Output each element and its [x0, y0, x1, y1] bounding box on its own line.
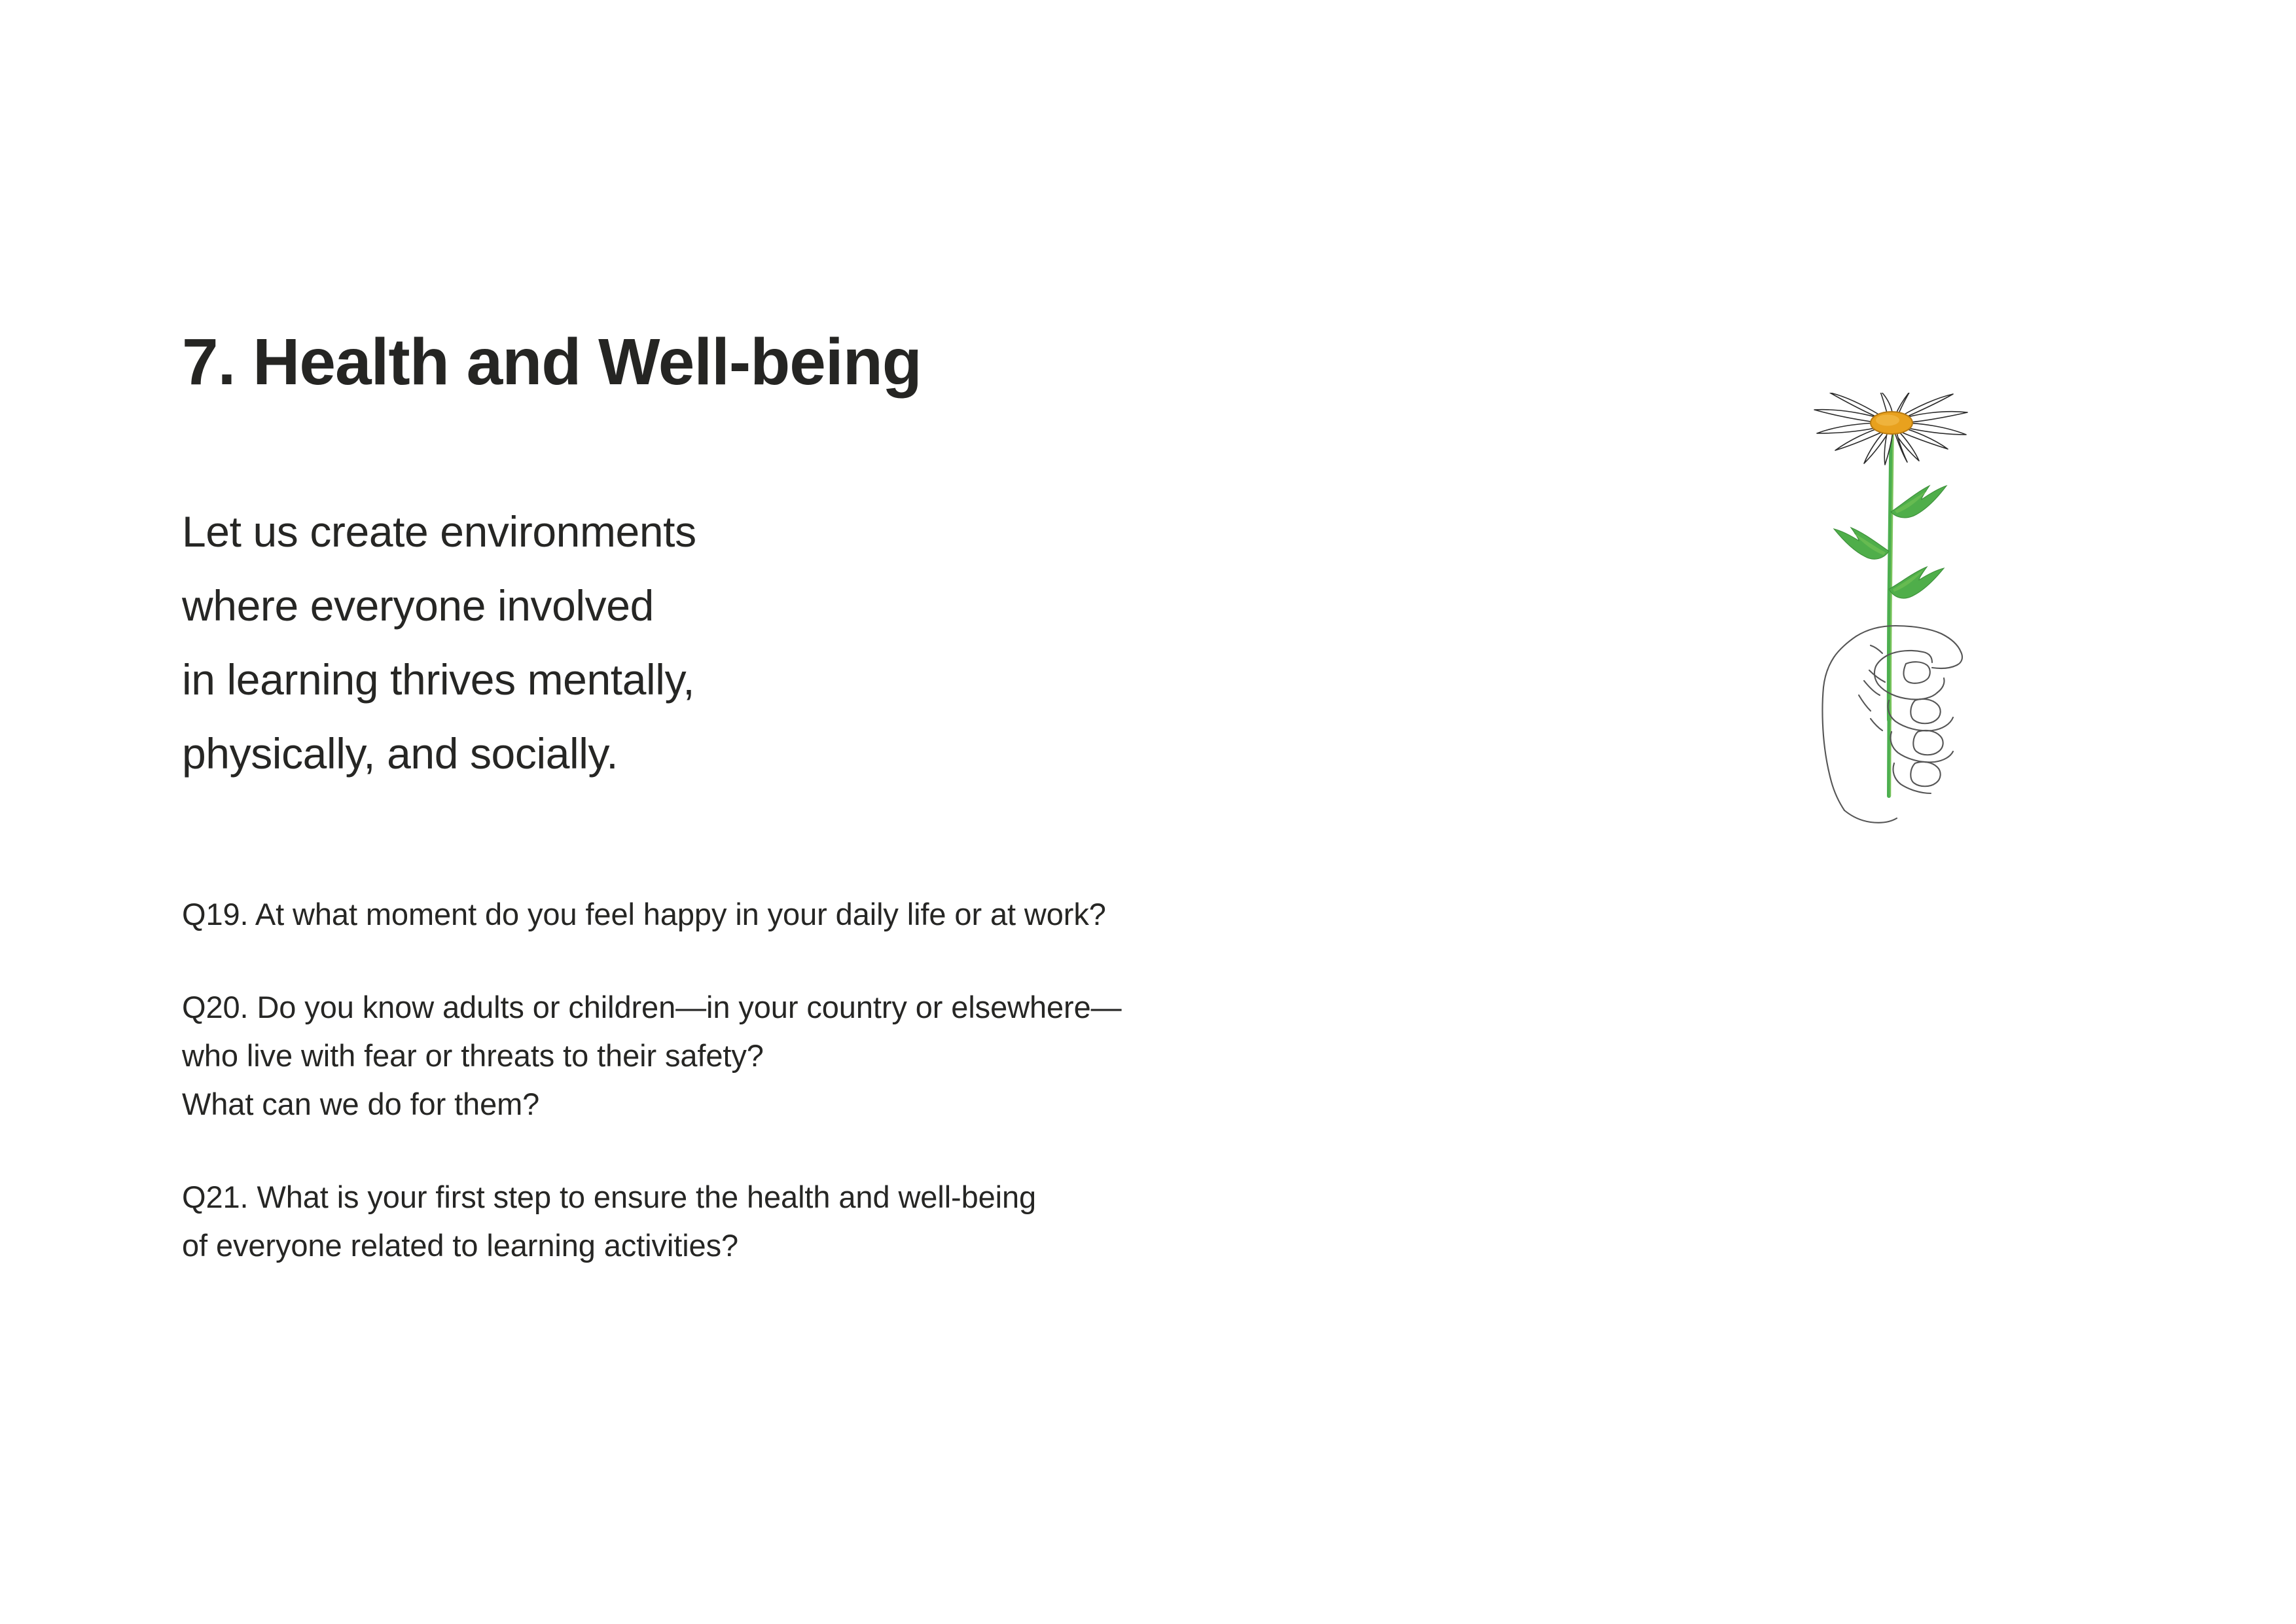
question-line: who live with fear or threats to their s… [182, 1032, 1122, 1080]
question-line: What can we do for them? [182, 1080, 1122, 1128]
question-line: of everyone related to learning activiti… [182, 1221, 1122, 1270]
page-title: 7. Health and Well-being [182, 325, 922, 399]
lead-statement: Let us create environments where everyon… [182, 495, 696, 791]
hand-holding-daisy-icon [1761, 393, 1996, 825]
question-item-q21: Q21. What is your first step to ensure t… [182, 1173, 1122, 1270]
lead-statement-line: physically, and socially. [182, 717, 696, 791]
questions-list: Q19. At what moment do you feel happy in… [182, 890, 1122, 1270]
lead-statement-line: in learning thrives mentally, [182, 643, 696, 717]
question-line: Q19. At what moment do you feel happy in… [182, 890, 1122, 939]
question-item-q20: Q20. Do you know adults or children—in y… [182, 983, 1122, 1128]
hand-sketch [1823, 626, 1963, 823]
slide-canvas: 7. Health and Well-being Let us create e… [0, 0, 2296, 1624]
hand-holding-daisy-illustration [1761, 393, 1996, 825]
question-item-q19: Q19. At what moment do you feel happy in… [182, 890, 1122, 939]
lead-statement-line: where everyone involved [182, 569, 696, 643]
lead-statement-line: Let us create environments [182, 495, 696, 569]
question-line: Q20. Do you know adults or children—in y… [182, 983, 1122, 1032]
question-line: Q21. What is your first step to ensure t… [182, 1173, 1122, 1221]
